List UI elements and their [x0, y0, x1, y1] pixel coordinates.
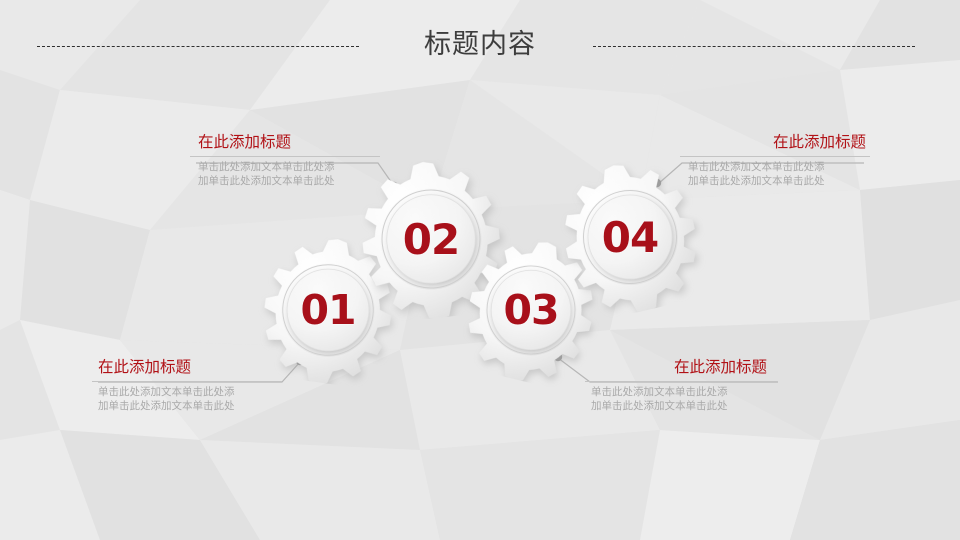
- callout-line-1: 单击此处添加文本单击此处添: [585, 385, 777, 399]
- callout-line-1: 单击此处添加文本单击此处添: [680, 160, 870, 174]
- callout-rule: [680, 156, 870, 157]
- callout-top-left[interactable]: 在此添加标题 单击此处添加文本单击此处添 加单击此处添加文本单击此处: [190, 133, 380, 188]
- callout-heading: 在此添加标题: [680, 133, 870, 153]
- callout-rule: [190, 156, 380, 157]
- callout-line-2: 加单击此处添加文本单击此处: [92, 399, 282, 413]
- callout-bottom-left[interactable]: 在此添加标题 单击此处添加文本单击此处添 加单击此处添加文本单击此处: [92, 358, 282, 413]
- callout-line-1: 单击此处添加文本单击此处添: [92, 385, 282, 399]
- callout-line-1: 单击此处添加文本单击此处添: [190, 160, 380, 174]
- callout-heading: 在此添加标题: [585, 358, 777, 378]
- callout-top-right[interactable]: 在此添加标题 单击此处添加文本单击此处添 加单击此处添加文本单击此处: [680, 133, 870, 188]
- callout-line-2: 加单击此处添加文本单击此处: [585, 399, 777, 413]
- callout-rule: [92, 381, 282, 382]
- callout-line-2: 加单击此处添加文本单击此处: [680, 174, 870, 188]
- callout-bottom-right[interactable]: 在此添加标题 单击此处添加文本单击此处添 加单击此处添加文本单击此处: [585, 358, 777, 413]
- callout-heading: 在此添加标题: [190, 133, 380, 153]
- callout-heading: 在此添加标题: [92, 358, 282, 378]
- callout-line-2: 加单击此处添加文本单击此处: [190, 174, 380, 188]
- slide-canvas: 标题内容: [0, 0, 960, 540]
- callout-rule: [585, 381, 777, 382]
